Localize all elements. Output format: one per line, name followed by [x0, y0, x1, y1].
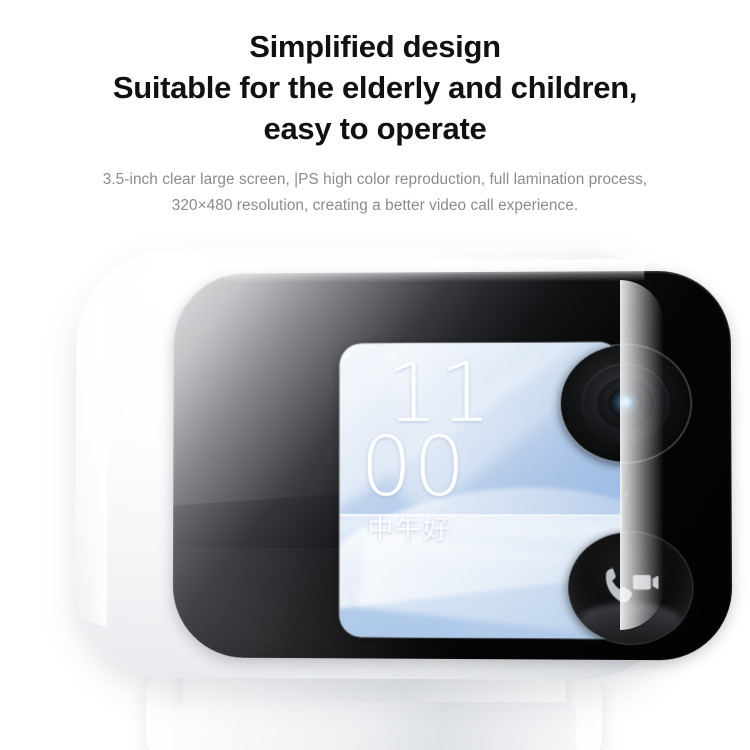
subtitle-line-2: 320×480 resolution, creating a better vi…: [0, 193, 750, 219]
product-image: 11 00 中午好: [0, 236, 750, 750]
headline-line-1: Simplified design: [0, 26, 750, 67]
camera-ring-middle: [596, 376, 655, 430]
camera-ring-outer: [582, 363, 670, 442]
headline-line-3: easy to operate: [0, 108, 750, 149]
camera-aperture-highlight: [619, 397, 632, 409]
video-call-icon: [602, 564, 659, 610]
page-subtitle: 3.5-inch clear large screen, |PS high co…: [0, 149, 750, 219]
device-stand-front-lip: [172, 702, 576, 750]
camera-lens-icon: [560, 345, 692, 462]
subtitle-line-1: 3.5-inch clear large screen, |PS high co…: [0, 167, 750, 193]
camera-ring-inner: [608, 387, 643, 419]
smart-video-call-device: 11 00 中午好: [75, 247, 681, 681]
video-call-button[interactable]: [567, 532, 693, 644]
clock-minutes: 00: [360, 431, 492, 505]
marketing-text-block: Simplified design Suitable for the elder…: [0, 0, 750, 219]
page-title: Simplified design Suitable for the elder…: [0, 0, 750, 149]
microphone-pinhole-icon: [625, 492, 629, 496]
lockscreen-greeting: 中午好: [367, 509, 451, 546]
lockscreen-clock: 11 00: [360, 357, 492, 505]
headline-line-2: Suitable for the elderly and children,: [0, 67, 750, 108]
device-front-glass-panel: 11 00 中午好: [173, 271, 733, 661]
